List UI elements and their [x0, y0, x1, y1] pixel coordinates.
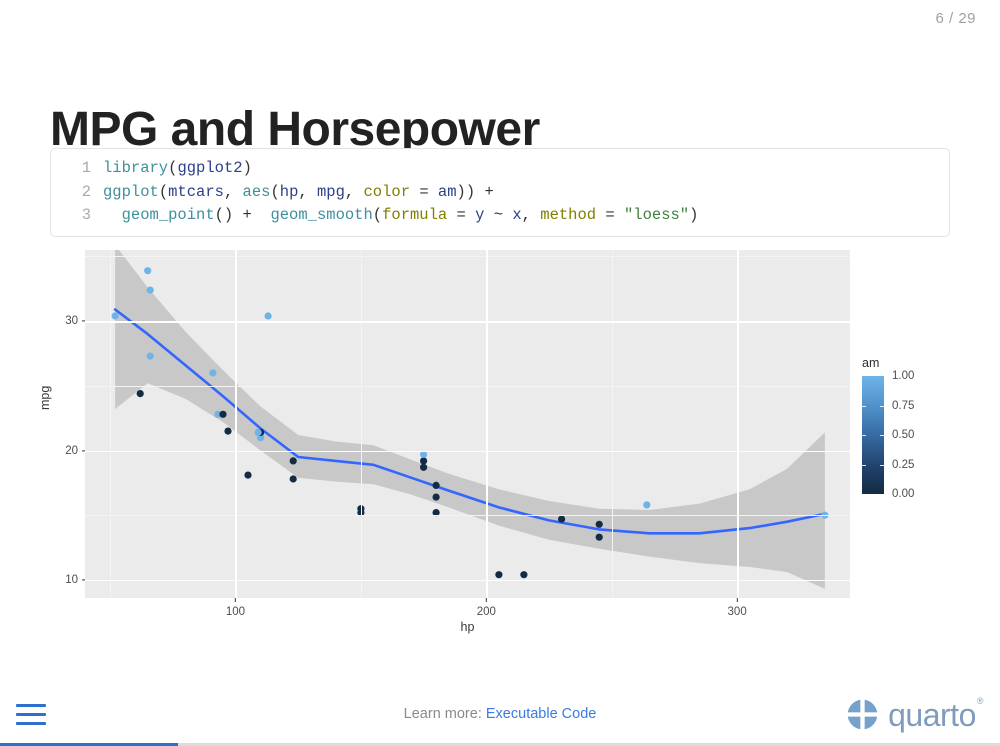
legend: am 1.000.750.500.250.00: [862, 356, 952, 494]
legend-tick-label: 0.50: [892, 429, 914, 441]
code-line-number: 1: [65, 157, 91, 181]
code-token: ggplot2: [177, 159, 242, 177]
x-axis-ticks: 100200300: [85, 250, 850, 598]
legend-tick-label: 0.00: [892, 488, 914, 500]
code-token: ~: [484, 206, 512, 224]
code-line-text: ggplot(mtcars, aes(hp, mpg, color = am))…: [103, 181, 503, 205]
x-axis-label: hp: [85, 620, 850, 634]
code-token: geom_point: [122, 206, 215, 224]
quarto-logo-icon: [846, 698, 879, 731]
x-tick-label: 300: [728, 598, 747, 618]
code-token: method: [540, 206, 596, 224]
code-token: geom_smooth: [270, 206, 372, 224]
code-token: ,: [345, 183, 364, 201]
legend-tick-label: 0.25: [892, 459, 914, 471]
code-line: 1library(ggplot2): [51, 157, 949, 181]
slide-root: 6 / 29 MPG and Horsepower 1library(ggplo…: [0, 0, 1000, 746]
code-token: ): [689, 206, 698, 224]
legend-tick-label: 1.00: [892, 370, 914, 382]
code-token: formula: [382, 206, 447, 224]
learn-more-prefix: Learn more:: [404, 706, 482, 722]
code-line-text: geom_point() + geom_smooth(formula = y ~…: [103, 204, 698, 228]
code-token: +: [233, 206, 261, 224]
code-line-number: 3: [65, 204, 91, 228]
code-token: )): [457, 183, 476, 201]
code-token: =: [596, 206, 624, 224]
ggplot-figure: 102030 100200300 mpg hp am 1.000.750.500…: [50, 248, 950, 640]
menu-bar-3: [16, 722, 46, 725]
y-tick-label: 20: [65, 445, 85, 457]
quarto-wordmark: quarto®: [888, 699, 982, 731]
code-token: "loess": [624, 206, 689, 224]
page-counter: 6 / 29: [935, 10, 976, 27]
quarto-brand[interactable]: quarto®: [846, 698, 982, 731]
code-line: 3 geom_point() + geom_smooth(formula = y…: [51, 204, 949, 228]
code-token: hp: [280, 183, 299, 201]
legend-tick-mark: [880, 435, 884, 436]
code-token: ): [243, 159, 252, 177]
code-token: am: [438, 183, 457, 201]
executable-code-link[interactable]: Executable Code: [486, 706, 596, 722]
code-token: (: [159, 183, 168, 201]
code-token: x: [512, 206, 521, 224]
code-token: library: [103, 159, 168, 177]
y-tick-label: 10: [65, 574, 85, 586]
code-token: ,: [224, 183, 243, 201]
code-token: [103, 206, 122, 224]
code-token: color: [364, 183, 411, 201]
code-token: ggplot: [103, 183, 159, 201]
y-axis-label: mpg: [38, 386, 52, 410]
code-token: ,: [522, 206, 541, 224]
legend-tick-mark: [862, 435, 866, 436]
legend-colorbar-wrap: 1.000.750.500.250.00: [862, 376, 952, 494]
code-line-text: library(ggplot2): [103, 157, 252, 181]
code-block: 1library(ggplot2)2ggplot(mtcars, aes(hp,…: [50, 148, 950, 237]
legend-tick-mark: [880, 465, 884, 466]
legend-tick-mark: [880, 406, 884, 407]
code-token: =: [447, 206, 475, 224]
code-token: aes: [243, 183, 271, 201]
code-token: mpg: [317, 183, 345, 201]
code-token: (: [373, 206, 382, 224]
code-token: +: [475, 183, 503, 201]
x-tick-label: 100: [226, 598, 245, 618]
y-tick-label: 30: [65, 315, 85, 327]
code-token: (: [270, 183, 279, 201]
code-line: 2ggplot(mtcars, aes(hp, mpg, color = am)…: [51, 181, 949, 205]
slide-footer: Learn more: Executable Code quarto®: [0, 690, 1000, 746]
code-token: mtcars: [168, 183, 224, 201]
code-line-number: 2: [65, 181, 91, 205]
legend-tick-mark: [862, 465, 866, 466]
code-token: ,: [298, 183, 317, 201]
legend-tick-mark: [862, 406, 866, 407]
quarto-trademark: ®: [977, 696, 983, 706]
code-token: =: [410, 183, 438, 201]
legend-tick-label: 0.75: [892, 400, 914, 412]
legend-title: am: [862, 356, 952, 370]
quarto-wordmark-text: quarto: [888, 697, 976, 733]
code-token: (): [215, 206, 234, 224]
x-tick-label: 200: [477, 598, 496, 618]
legend-tick-marks: [862, 376, 884, 494]
